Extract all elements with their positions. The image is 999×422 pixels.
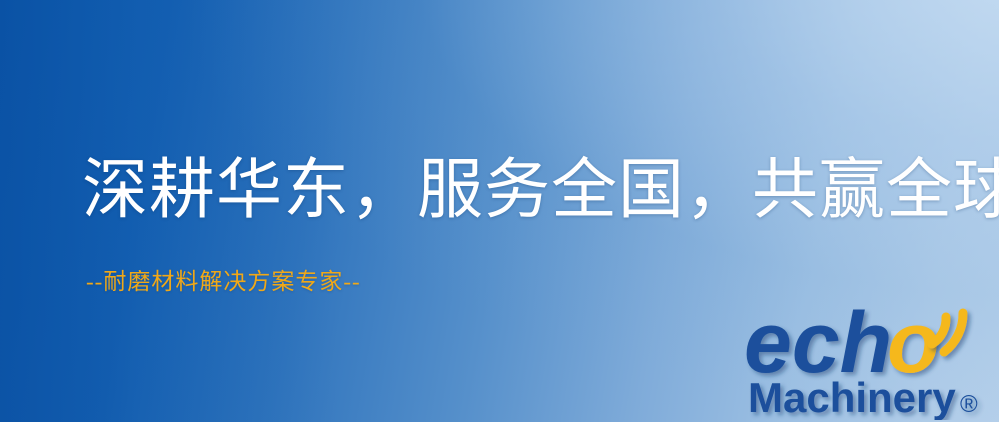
company-logo[interactable]: ech o Machinery ® (744, 296, 996, 420)
banner-subtitle: --耐磨材料解决方案专家-- (86, 268, 361, 296)
logo-subbrand: Machinery ® (748, 374, 978, 420)
banner-headline: 深耕华东，服务全国，共赢全球 (82, 152, 999, 230)
logo-trademark-symbol: ® (960, 391, 978, 418)
logo-subbrand-text: Machinery (748, 374, 956, 420)
hero-banner: 深耕华东，服务全国，共赢全球 --耐磨材料解决方案专家-- ech o (0, 0, 999, 422)
